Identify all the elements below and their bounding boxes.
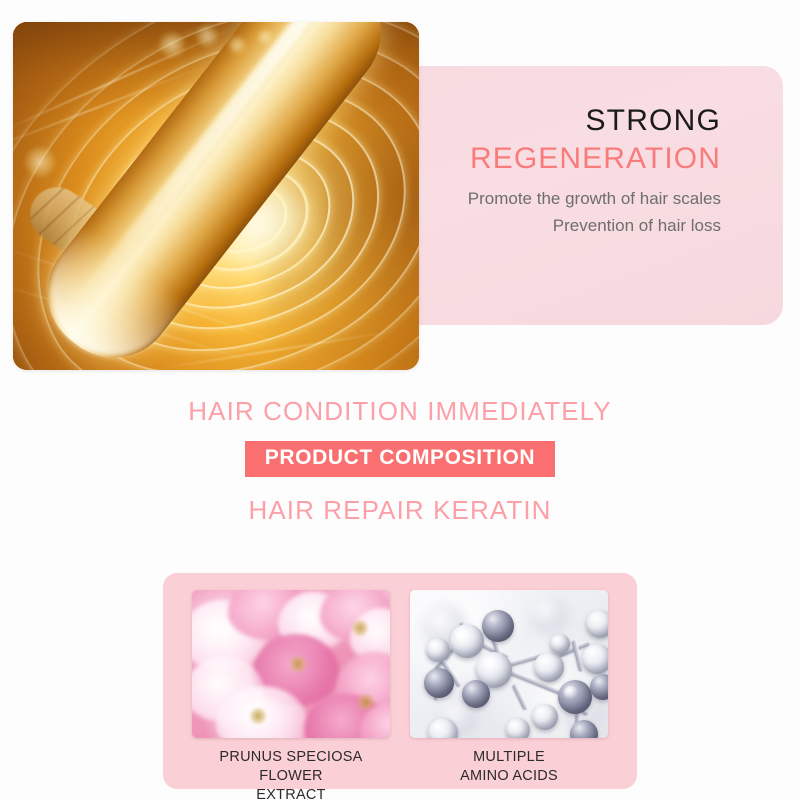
caption-line-1: PRUNUS SPECIOSA FLOWER [192,748,390,786]
ingredient-item-amino: MULTIPLE AMINO ACIDS [410,590,608,789]
molecule-atom [550,634,570,654]
molecule-atom [532,704,558,730]
caption-line-2: AMINO ACIDS [410,767,608,786]
blossom-stamen [250,708,266,724]
atom-highlight [484,658,500,674]
benefit-line-1: Promote the growth of hair scales [401,185,721,213]
molecule-atom [424,668,454,698]
ingredient-item-blossom: PRUNUS SPECIOSA FLOWER EXTRACT [192,590,390,789]
caption-line-1: MULTIPLE [410,748,608,767]
blossom-stamen [290,656,306,672]
heading-hair-repair-keratin: HAIR REPAIR KERATIN [0,495,800,526]
banner-product-composition: PRODUCT COMPOSITION [245,441,555,477]
headline-regeneration: REGENERATION [401,140,721,178]
molecule-atom [482,610,514,642]
molecule-atom [586,610,608,638]
molecule-atom [582,644,608,674]
cherry-blossom-photo [192,590,390,738]
ingredient-caption-blossom: PRUNUS SPECIOSA FLOWER EXTRACT [192,748,390,800]
hero-hair-strand-photo [13,22,419,370]
molecule-atom [506,718,530,738]
blossom-stamen [358,694,374,710]
molecule-atom [462,680,490,708]
molecule-atom [534,652,564,682]
ingredients-card: PRUNUS SPECIOSA FLOWER EXTRACT [163,573,637,789]
ingredient-caption-amino: MULTIPLE AMINO ACIDS [410,748,608,786]
benefit-line-2: Prevention of hair loss [401,212,721,240]
atom-highlight [456,630,472,646]
headline-strong: STRONG [401,102,721,140]
info-panel-text-group: STRONG REGENERATION Promote the growth o… [401,102,721,240]
atom-highlight [564,686,578,700]
product-composition-section: HAIR CONDITION IMMEDIATELY PRODUCT COMPO… [0,396,800,526]
blossom-stamen [352,620,368,636]
heading-hair-condition: HAIR CONDITION IMMEDIATELY [0,396,800,427]
molecule-model-photo [410,590,608,738]
product-marketing-page: STRONG REGENERATION Promote the growth o… [0,0,800,800]
molecule-blur-sphere [530,596,568,634]
strong-regeneration-panel: STRONG REGENERATION Promote the growth o… [360,66,783,325]
molecule-atom [426,638,450,662]
caption-line-2: EXTRACT [192,786,390,800]
